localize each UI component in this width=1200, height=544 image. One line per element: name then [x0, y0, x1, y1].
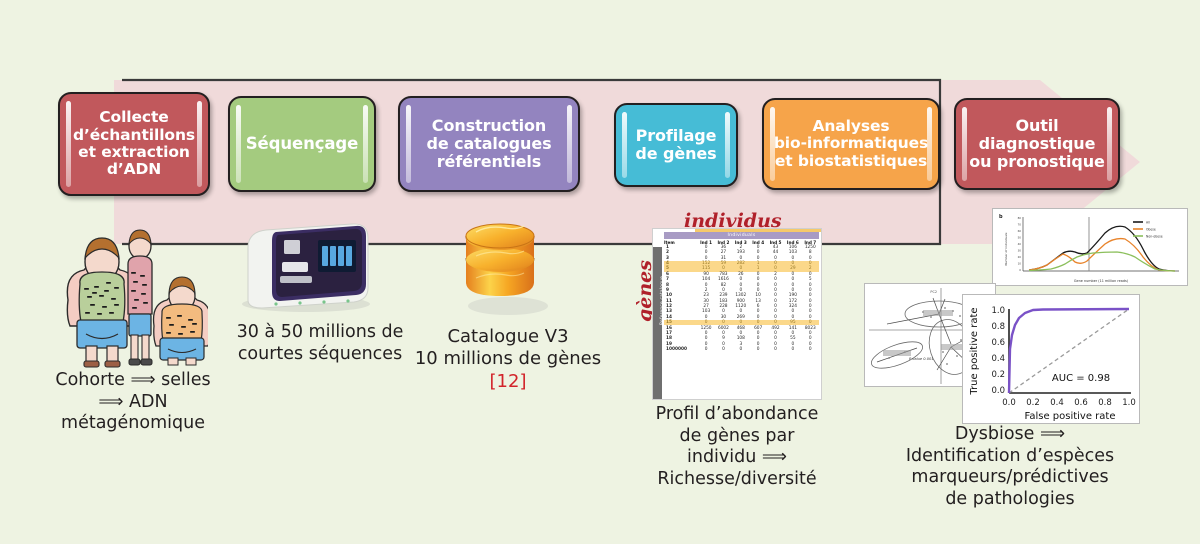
- caption-catalogue: Catalogue V3 10 millions de gènes [12]: [408, 326, 608, 393]
- figure-canvas: Collecte d’échantillons et extraction d’…: [0, 0, 1200, 544]
- svg-text:0.2: 0.2: [991, 370, 1005, 380]
- svg-text:0.8: 0.8: [991, 322, 1005, 332]
- svg-text:0.6: 0.6: [991, 338, 1005, 348]
- pipeline-step-analyses[interactable]: Analyses bio-informatiques et biostatist…: [762, 98, 940, 190]
- roc-xlabel: False positive rate: [1025, 411, 1116, 422]
- dna-sequencer-icon: [232, 218, 378, 314]
- panel-letter-b: b: [999, 214, 1003, 220]
- density-ylabel: Number of individuals: [1004, 232, 1008, 265]
- step-label-sequencage: Séquençage: [237, 135, 368, 153]
- table-sidebar: Reference catalogue: [653, 247, 662, 399]
- table-cell-value: 0: [767, 347, 784, 352]
- step-label-profilage: Profilage de gènes: [626, 127, 725, 163]
- svg-text:0.2: 0.2: [1026, 398, 1040, 408]
- svg-text:0: 0: [1019, 268, 1021, 272]
- svg-text:50: 50: [1018, 236, 1022, 240]
- step-label-analyses: Analyses bio-informatiques et biostatist…: [765, 118, 937, 170]
- svg-text:0.4: 0.4: [991, 354, 1005, 364]
- roc-curve-chart: 1.00.80.6 0.40.20.0 0.00.20.4 0.60.81.0 …: [963, 295, 1141, 425]
- step-label-outil: Outil diagnostique ou pronostique: [956, 117, 1118, 171]
- svg-text:10: 10: [1018, 262, 1022, 266]
- catalogue-version: Catalogue V3: [408, 326, 608, 348]
- svg-text:0.0: 0.0: [991, 386, 1005, 396]
- table-sidebar-label: Reference catalogue: [660, 276, 665, 325]
- caption-dysbiose: Dysbiose ⟹ Identification d’espèces marq…: [872, 424, 1148, 511]
- abundance-table-panel: Reference catalogue Individuals ItemInd …: [652, 228, 822, 400]
- svg-text:40: 40: [1018, 242, 1022, 246]
- caption-cohorte: Cohorte ⟹ selles ⟹ ADN métagénomique: [30, 370, 236, 435]
- svg-text:0.0: 0.0: [1002, 398, 1016, 408]
- table-cell-value: 0: [784, 347, 801, 352]
- pca-pvalue: P value 0.001: [909, 357, 934, 361]
- density-legend: All Obese Non-obese: [1133, 221, 1163, 239]
- roc-ylabel: True positive rate: [969, 307, 980, 395]
- svg-text:80: 80: [1018, 216, 1022, 220]
- table-cell-item: 1000000: [664, 347, 697, 352]
- table-cell-value: 0: [749, 347, 766, 352]
- table-band-label: Individuals: [664, 232, 819, 239]
- legend-non-obese: Non-obese: [1146, 235, 1163, 239]
- caption-profil: Profil d’abondance de gènes par individu…: [616, 404, 858, 491]
- gene-count-density-panel: b 807060 504030 20100 Number of individu…: [992, 208, 1188, 286]
- pca-ylabel: PC2: [930, 290, 937, 294]
- svg-text:30: 30: [1018, 249, 1022, 253]
- catalogue-genes: 10 millions de gènes: [408, 348, 608, 370]
- legend-obese: Obese: [1146, 228, 1156, 232]
- pipeline-step-catalogues[interactable]: Construction de catalogues référentiels: [398, 96, 580, 192]
- svg-text:1.0: 1.0: [991, 306, 1005, 316]
- table-cell-value: 0: [802, 347, 819, 352]
- svg-text:70: 70: [1018, 223, 1022, 227]
- step-label-catalogues: Construction de catalogues référentiels: [418, 117, 561, 171]
- pipeline-step-outil[interactable]: Outil diagnostique ou pronostique: [954, 98, 1120, 190]
- svg-text:0.8: 0.8: [1098, 398, 1112, 408]
- abundance-table: Individuals ItemInd 1Ind 2Ind 3Ind 4Ind …: [664, 232, 819, 352]
- svg-text:1.0: 1.0: [1122, 398, 1136, 408]
- svg-text:0.4: 0.4: [1050, 398, 1064, 408]
- svg-text:60: 60: [1018, 229, 1022, 233]
- pipeline-step-collecte[interactable]: Collecte d’échantillons et extraction d’…: [58, 92, 210, 196]
- table-cell-value: 0: [732, 347, 749, 352]
- roc-auc-annotation: AUC = 0.98: [1052, 373, 1110, 384]
- step-label-collecte: Collecte d’échantillons et extraction d’…: [64, 109, 204, 178]
- pipeline-step-profilage[interactable]: Profilage de gènes: [614, 103, 738, 187]
- density-xlabel: Gene number (11 million reads): [1074, 279, 1129, 283]
- gene-count-density-chart: b 807060 504030 20100 Number of individu…: [993, 209, 1189, 287]
- table-cell-value: 0: [715, 347, 732, 352]
- legend-all: All: [1146, 221, 1150, 225]
- table-cell-value: 0: [697, 347, 714, 352]
- table-row: 10000000000000: [664, 347, 819, 352]
- database-cylinder-icon: [450, 214, 560, 318]
- people-group-icon: [56, 222, 208, 368]
- caption-sequencage: 30 à 50 millions de courtes séquences: [222, 322, 418, 365]
- svg-text:0.6: 0.6: [1074, 398, 1088, 408]
- pipeline-step-sequencage[interactable]: Séquençage: [228, 96, 376, 192]
- roc-curve-panel: 1.00.80.6 0.40.20.0 0.00.20.4 0.60.81.0 …: [962, 294, 1140, 424]
- table-body: 1036204310612502027193044103830310000041…: [664, 245, 819, 353]
- svg-text:20: 20: [1018, 255, 1022, 259]
- catalogue-reference: [12]: [408, 371, 608, 393]
